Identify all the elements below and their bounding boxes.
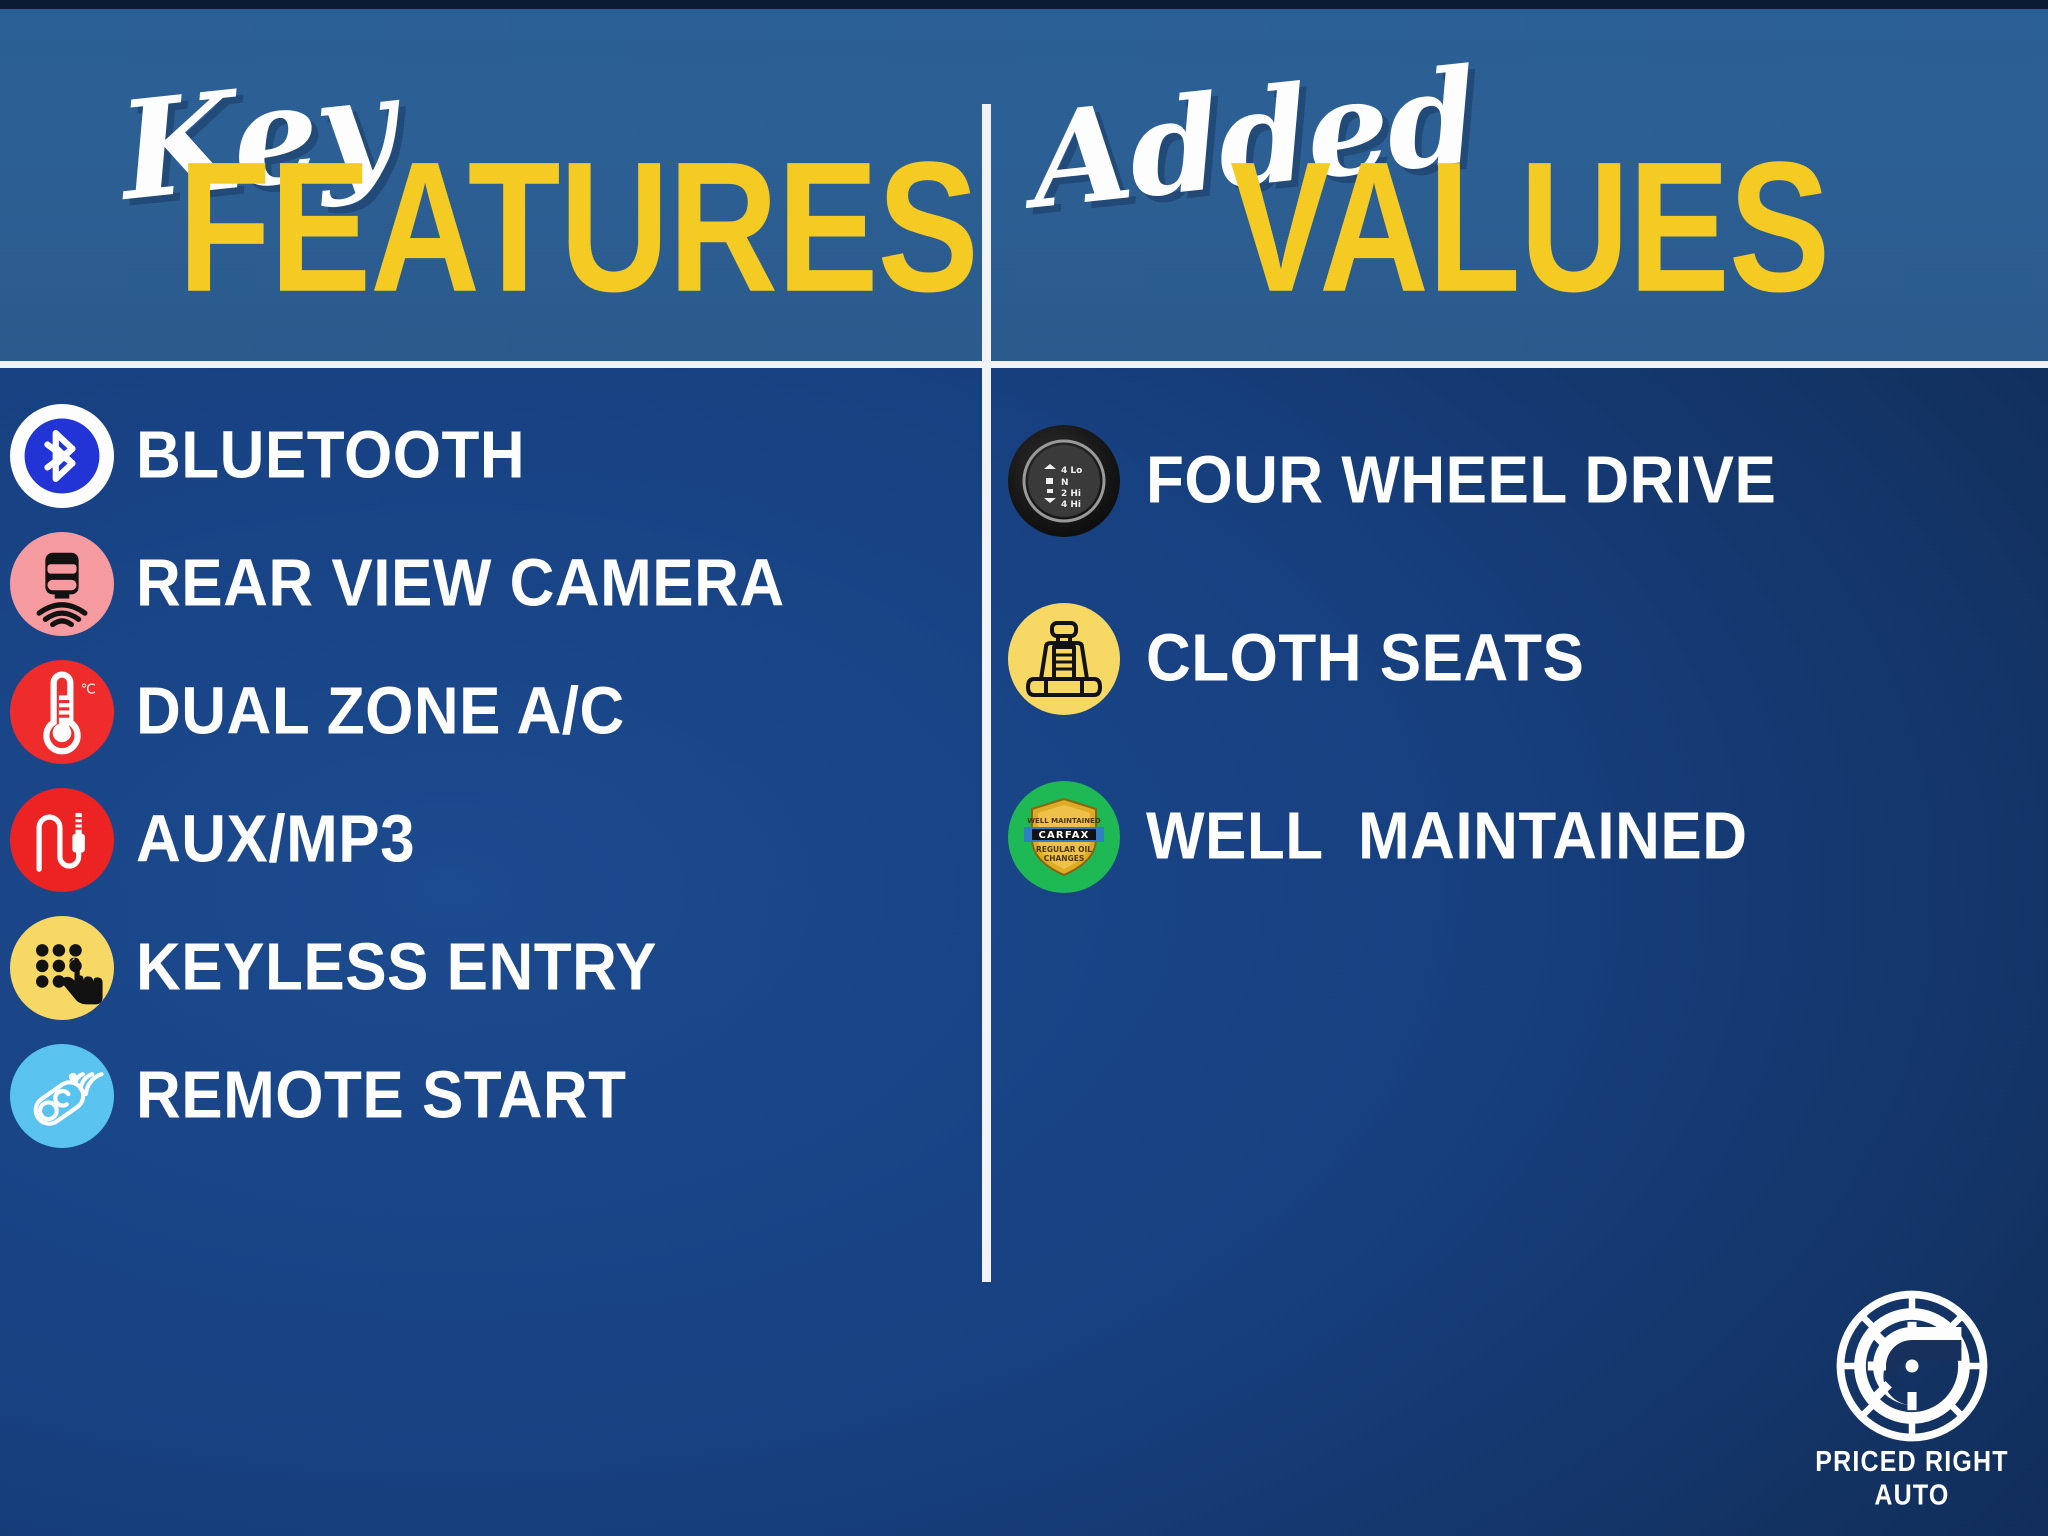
keypad-hand-icon: [10, 916, 114, 1020]
added-values-list: 4 Lo N 2 Hi 4 Hi FOUR WHEEL DRIVE: [1008, 392, 2028, 926]
thermometer-icon: ℃: [10, 660, 114, 764]
knob-position-label: 2 Hi: [1061, 489, 1081, 499]
four-wheel-drive-knob-icon: 4 Lo N 2 Hi 4 Hi: [1008, 425, 1120, 537]
dealer-logo-text: PRICED RIGHT AUTO: [1812, 1446, 2012, 1513]
list-item-label: KEYLESS ENTRY: [136, 935, 657, 1002]
list-item: KEYLESS ENTRY: [10, 904, 970, 1032]
knob-position-label: 4 Hi: [1061, 500, 1081, 510]
list-item: REAR VIEW CAMERA: [10, 520, 970, 648]
knob-position-label: 4 Lo: [1061, 466, 1082, 476]
values-heading: VALUES: [1230, 135, 1829, 320]
list-item-label: BLUETOOTH: [136, 423, 525, 490]
carfax-badge-icon: WELL MAINTAINED CARFAX REGULAR OIL CHANG…: [1008, 781, 1120, 893]
car-seat-icon: [1008, 603, 1120, 715]
list-item: 4 Lo N 2 Hi 4 Hi FOUR WHEEL DRIVE: [1008, 392, 2028, 570]
carfax-bottom-line-1: REGULAR OIL: [1036, 845, 1092, 854]
column-divider: [982, 104, 991, 1282]
feature-slide: Key FEATURES Added VALUES BLUETOOTH: [0, 0, 2048, 1536]
list-item: AUX/MP3: [10, 776, 970, 904]
carfax-brand-text: CARFAX: [1038, 830, 1089, 841]
list-item: BLUETOOTH: [10, 392, 970, 520]
rear-camera-icon: [10, 532, 114, 636]
list-item: WELL MAINTAINED CARFAX REGULAR OIL CHANG…: [1008, 748, 2028, 926]
knob-position-label: N: [1061, 478, 1069, 488]
top-edge-bar: [0, 0, 2048, 9]
list-item-label: FOUR WHEEL DRIVE: [1146, 448, 1776, 515]
features-heading: FEATURES: [178, 135, 978, 320]
header-divider-rule: [0, 361, 2048, 368]
bluetooth-icon: [10, 404, 114, 508]
list-item-label: REAR VIEW CAMERA: [136, 551, 785, 618]
list-item-label: AUX/MP3: [136, 807, 415, 874]
list-item: CLOTH SEATS: [1008, 570, 2028, 748]
list-item: ℃ DUAL ZONE A/C: [10, 648, 970, 776]
aux-cable-icon: [10, 788, 114, 892]
list-item: REMOTE START: [10, 1032, 970, 1160]
key-features-list: BLUETOOTH REAR VIEW CAMERA: [10, 392, 970, 1160]
list-item-label: CLOTH SEATS: [1146, 626, 1584, 693]
key-fob-icon: [10, 1044, 114, 1148]
carfax-top-text: WELL MAINTAINED: [1027, 817, 1101, 825]
wheel-wrench-emblem-icon: [1834, 1288, 1990, 1444]
svg-text:℃: ℃: [81, 681, 96, 697]
list-item-label: DUAL ZONE A/C: [136, 679, 625, 746]
list-item-label: REMOTE START: [136, 1063, 627, 1130]
dealer-logo: PRICED RIGHT AUTO: [1812, 1288, 2012, 1508]
list-item-label: WELL MAINTAINED: [1146, 804, 1748, 871]
carfax-bottom-line-2: CHANGES: [1044, 854, 1085, 863]
